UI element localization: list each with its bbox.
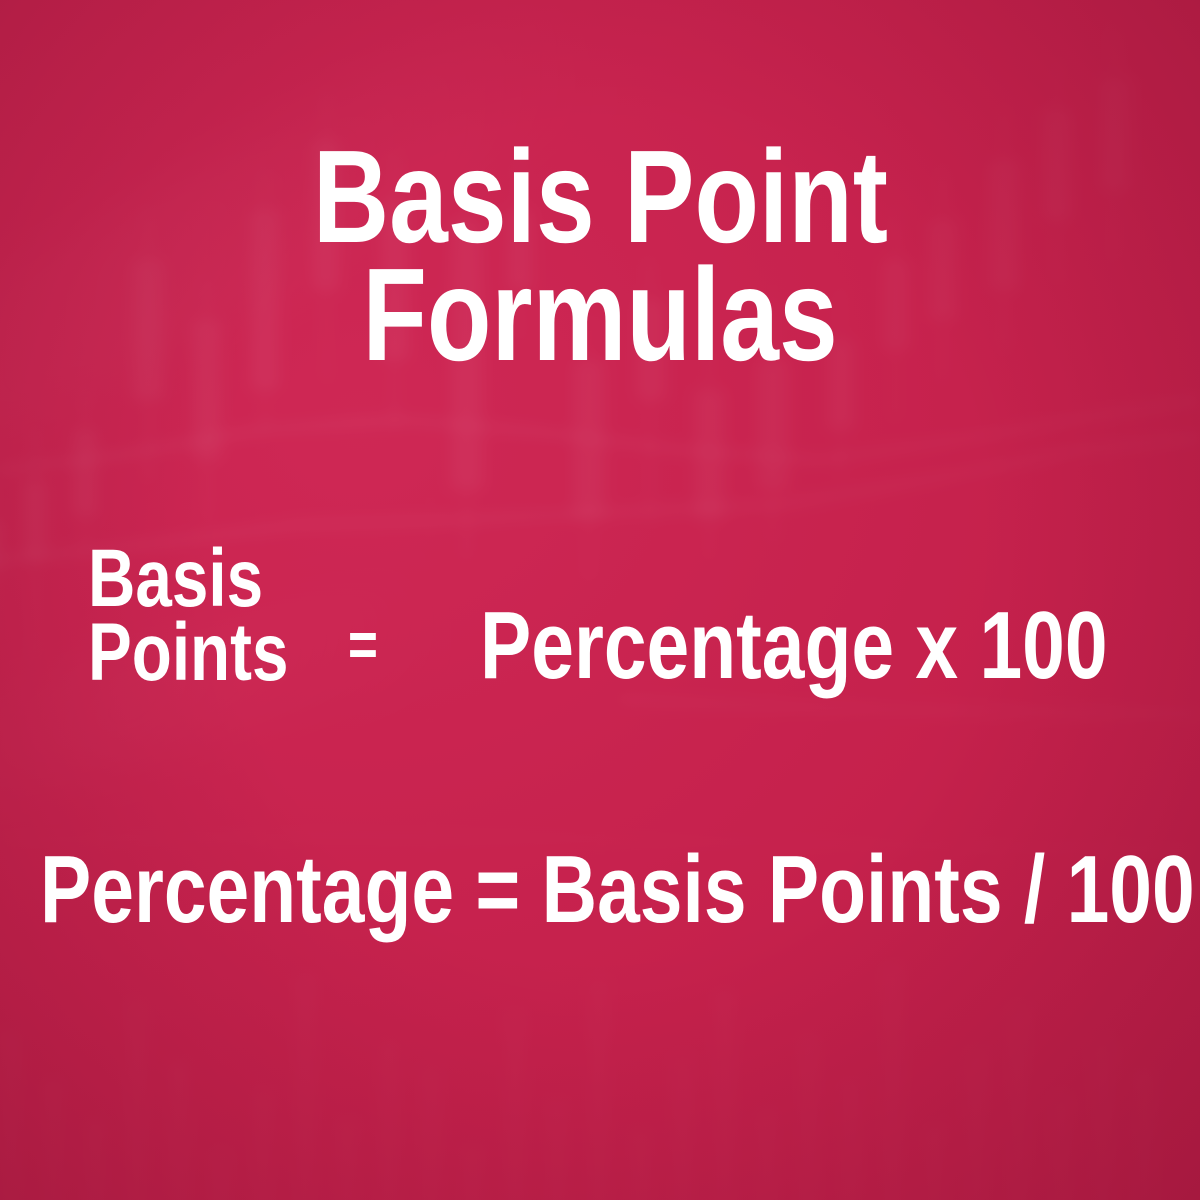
formula-one-right-text: Percentage x 100 — [480, 598, 1108, 694]
text-content: Basis Point Formulas Basis Points = Perc… — [0, 0, 1200, 1200]
page-title-line-2-text: Formulas — [362, 256, 837, 374]
formula-two-text: Percentage = Basis Points / 100 — [40, 842, 1195, 938]
formula-one-equals-sign: = — [348, 612, 385, 676]
poster-canvas: Basis Point Formulas Basis Points = Perc… — [0, 0, 1200, 1200]
page-title-line-1-text: Basis Point — [312, 138, 887, 256]
formula-one-equals-text: = — [348, 612, 378, 676]
page-title-line-2: Formulas — [0, 256, 1200, 374]
formula-one-left-line-2-text: Points — [88, 616, 288, 690]
formula-one-right-operand: Percentage x 100 — [480, 598, 1200, 694]
formula-two: Percentage = Basis Points / 100 — [40, 842, 1160, 938]
formula-one-left-line-1: Basis — [88, 542, 338, 616]
formula-one-left-line-1-text: Basis — [88, 542, 263, 616]
page-title-line-1: Basis Point — [0, 138, 1200, 256]
formula-one-left-line-2: Points — [88, 616, 338, 690]
formula-one-left-operand: Basis Points — [88, 542, 338, 690]
